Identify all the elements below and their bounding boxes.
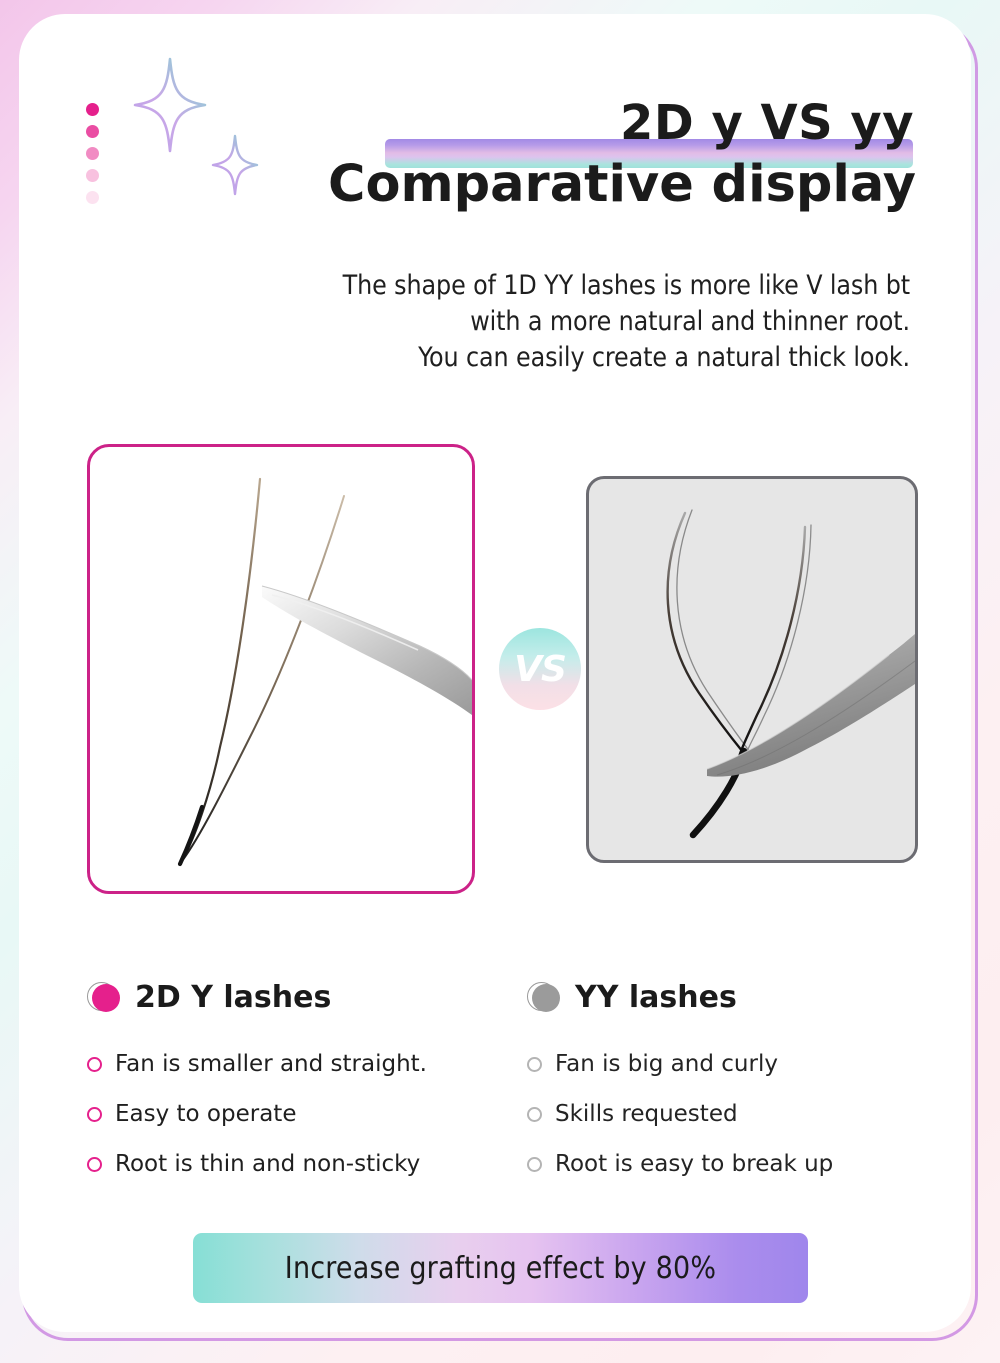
legend-list-yy: Fan is big and curly Skills requested Ro… bbox=[527, 1039, 917, 1189]
legend-item-label: Fan is smaller and straight. bbox=[115, 1051, 427, 1077]
page-frame: 2D y VS yy Comparative display The shape… bbox=[0, 0, 1000, 1363]
legend-item-label: Root is thin and non-sticky bbox=[115, 1151, 420, 1177]
legend-header-yy: YY lashes bbox=[527, 975, 917, 1019]
vs-label: VS bbox=[514, 649, 566, 690]
sparkle-decoration bbox=[128, 52, 278, 212]
pink-dot-icon bbox=[86, 169, 99, 182]
pink-dot-icon bbox=[86, 125, 99, 138]
sparkle-small-icon bbox=[213, 136, 257, 194]
bullet-circle-icon bbox=[87, 1107, 102, 1122]
pink-dot-icon bbox=[86, 147, 99, 160]
pink-dot-column bbox=[86, 103, 99, 204]
bullet-circle-icon bbox=[87, 1057, 102, 1072]
legend-marker-gray-icon bbox=[527, 981, 561, 1013]
legend-list-2d-y: Fan is smaller and straight. Easy to ope… bbox=[87, 1039, 502, 1189]
legend-item-label: Easy to operate bbox=[115, 1101, 296, 1127]
legend-item-label: Skills requested bbox=[555, 1101, 738, 1127]
title-line-primary: 2D y VS yy bbox=[300, 94, 920, 152]
legend-item-label: Root is easy to break up bbox=[555, 1151, 833, 1177]
legend-title-yy: YY lashes bbox=[575, 980, 737, 1015]
vs-badge: VS bbox=[499, 628, 581, 710]
title-line-secondary: Comparative display bbox=[300, 154, 920, 216]
list-item: Root is easy to break up bbox=[527, 1139, 917, 1189]
legend-marker-pink-icon bbox=[87, 981, 121, 1013]
legend-title-2d-y: 2D Y lashes bbox=[135, 980, 331, 1015]
bullet-circle-icon bbox=[527, 1107, 542, 1122]
legend-item-label: Fan is big and curly bbox=[555, 1051, 778, 1077]
list-item: Root is thin and non-sticky bbox=[87, 1139, 502, 1189]
bullet-circle-icon bbox=[527, 1057, 542, 1072]
bullet-circle-icon bbox=[527, 1157, 542, 1172]
yy-lash-photo[interactable] bbox=[586, 476, 918, 863]
list-item: Easy to operate bbox=[87, 1089, 502, 1139]
legend-column-2d-y: 2D Y lashes Fan is smaller and straight.… bbox=[87, 975, 502, 1189]
list-item: Fan is big and curly bbox=[527, 1039, 917, 1089]
description-line-1: The shape of 1D YY lashes is more like V… bbox=[110, 268, 910, 304]
list-item: Skills requested bbox=[527, 1089, 917, 1139]
legend-column-yy: YY lashes Fan is big and curly Skills re… bbox=[502, 975, 917, 1189]
2d-y-lash-photo[interactable] bbox=[87, 444, 475, 894]
sparkle-large-icon bbox=[135, 59, 205, 151]
promo-banner-label: Increase grafting effect by 80% bbox=[285, 1251, 716, 1286]
legend-header-2d-y: 2D Y lashes bbox=[87, 975, 502, 1019]
description-line-3: You can easily create a natural thick lo… bbox=[110, 340, 910, 376]
pink-dot-icon bbox=[86, 191, 99, 204]
legend: 2D Y lashes Fan is smaller and straight.… bbox=[87, 975, 917, 1189]
page-title: 2D y VS yy Comparative display bbox=[300, 94, 920, 216]
bullet-circle-icon bbox=[87, 1157, 102, 1172]
description-text: The shape of 1D YY lashes is more like V… bbox=[110, 268, 910, 376]
description-line-2: with a more natural and thinner root. bbox=[110, 304, 910, 340]
list-item: Fan is smaller and straight. bbox=[87, 1039, 502, 1089]
pink-dot-icon bbox=[86, 103, 99, 116]
promo-banner: Increase grafting effect by 80% bbox=[193, 1233, 808, 1303]
